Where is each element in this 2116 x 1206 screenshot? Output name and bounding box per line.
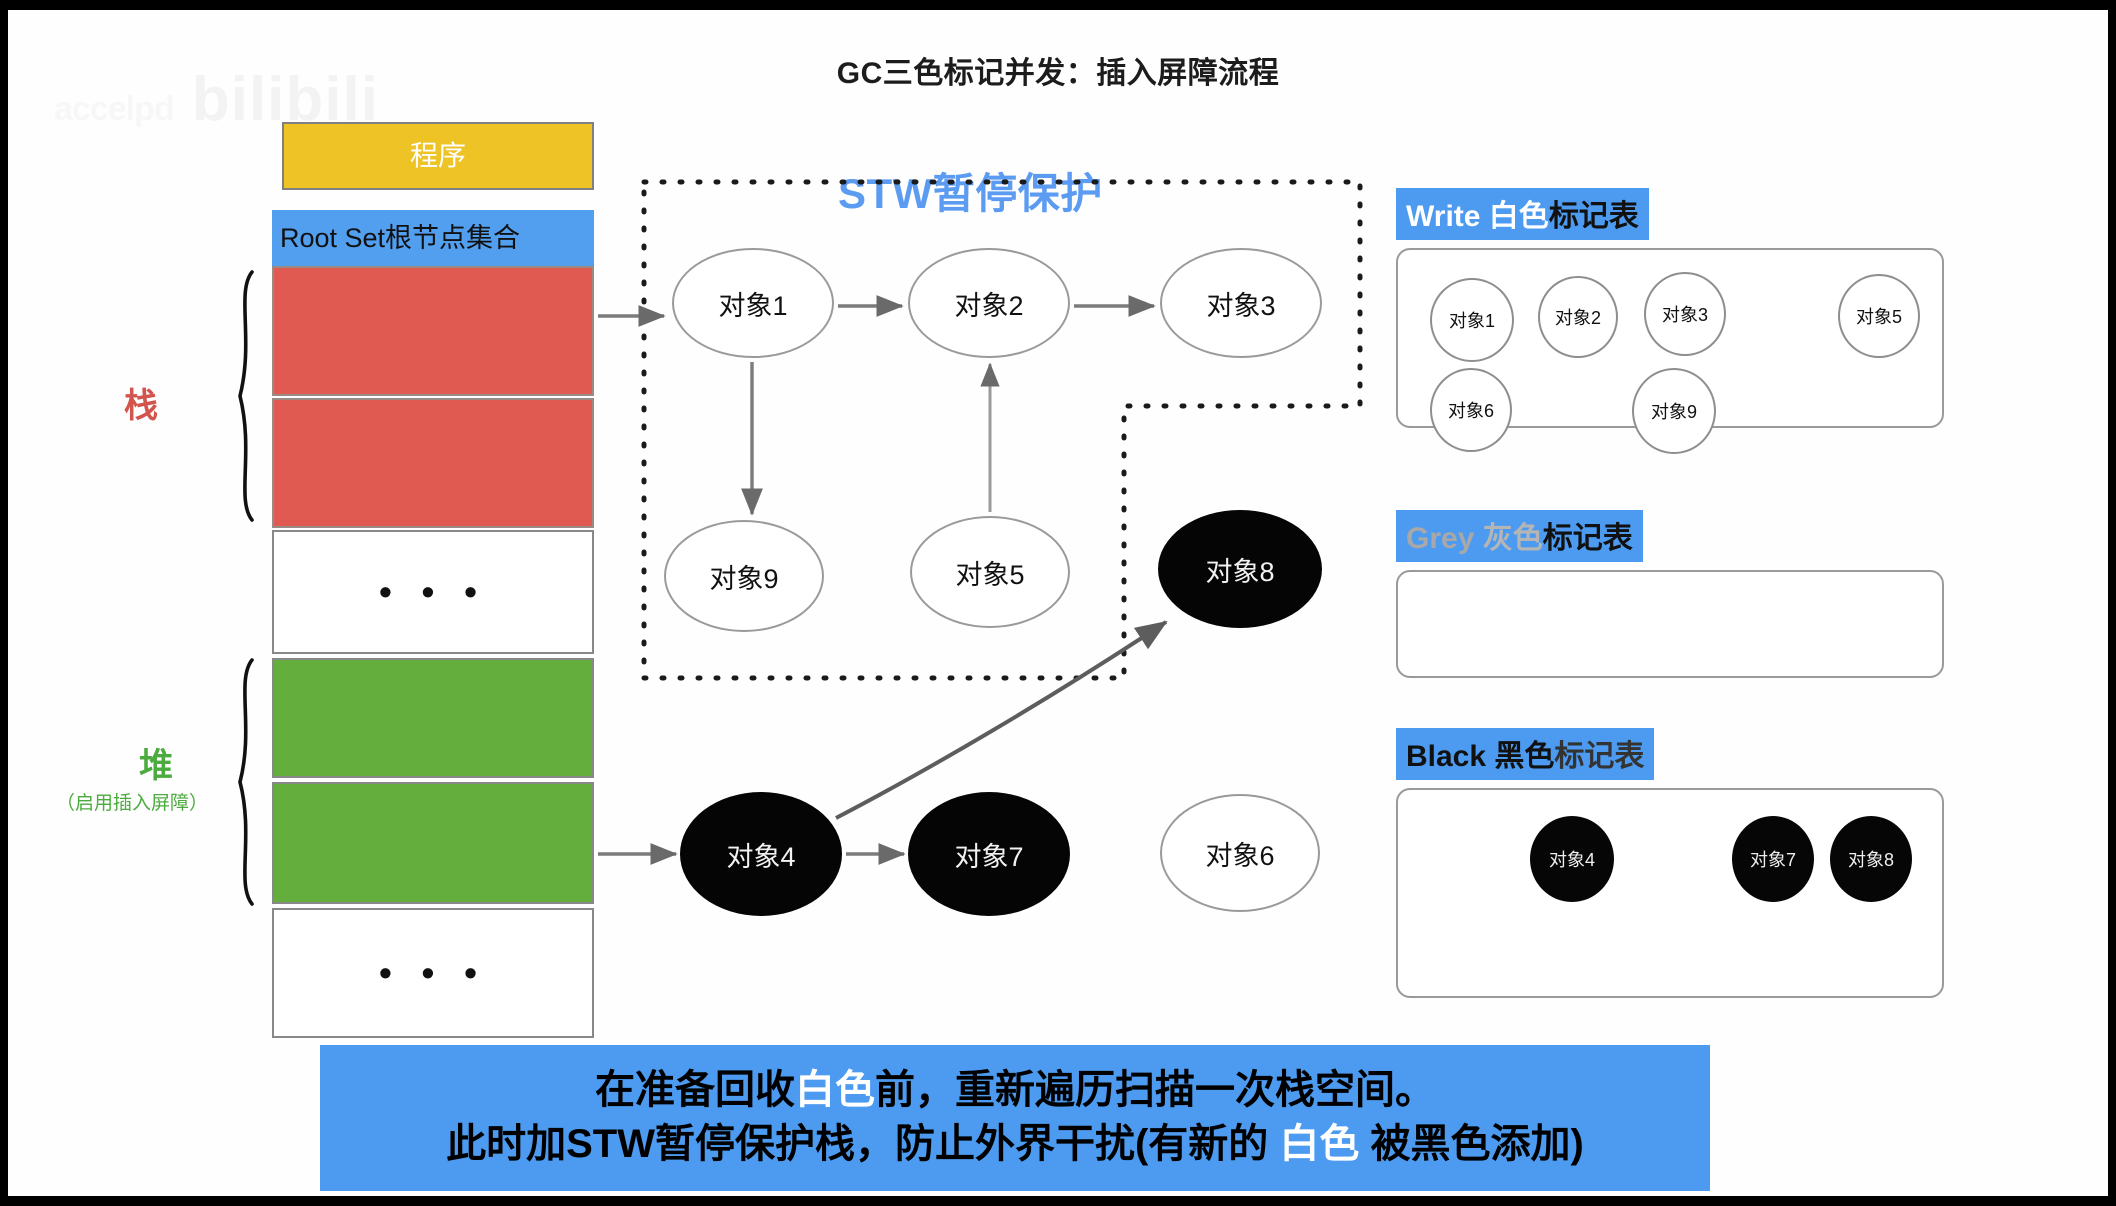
edge-obj4-to-obj8	[836, 622, 1166, 818]
white-table-item[interactable]: 对象1	[1430, 278, 1514, 362]
graph-node-obj7[interactable]: 对象7	[908, 792, 1070, 916]
caption-l2-white: 白色	[1279, 1122, 1359, 1166]
black-table-item[interactable]: 对象4	[1530, 816, 1614, 902]
stack-brace	[240, 272, 252, 520]
white-table-item[interactable]: 对象6	[1430, 368, 1512, 452]
graph-node-label: 对象7	[954, 835, 1023, 874]
slide-stage: accelpd bilibili GC三色标记并发：插入屏障流程 程序 Root…	[8, 10, 2108, 1196]
item-label: 对象3	[1662, 301, 1708, 327]
item-label: 对象2	[1555, 304, 1601, 330]
graph-node-obj8[interactable]: 对象8	[1158, 510, 1322, 628]
black-table-header-color-word: 黑色	[1486, 740, 1554, 773]
item-label: 对象9	[1651, 398, 1697, 424]
heap-region-sublabel: （启用插入屏障）	[56, 788, 208, 815]
heap-region-label: 堆	[126, 738, 186, 787]
black-marker-table: 对象4 对象7 对象8	[1396, 788, 1944, 998]
stack-ellipsis-slot: • • •	[272, 530, 594, 654]
caption-l2-b: 添加)	[1491, 1122, 1584, 1166]
item-label: 对象1	[1449, 307, 1495, 333]
black-table-header-en: Black	[1406, 740, 1486, 773]
grey-marker-table	[1396, 570, 1944, 678]
caption-l1-white: 白色	[795, 1068, 875, 1112]
white-table-header-tail: 标记表	[1549, 200, 1639, 233]
grey-table-header-tail: 标记表	[1543, 522, 1633, 555]
item-label: 对象5	[1856, 303, 1902, 329]
graph-node-obj1[interactable]: 对象1	[672, 248, 834, 358]
item-label: 对象6	[1448, 397, 1494, 423]
stack-region-label: 栈	[124, 378, 158, 427]
stw-region-label: STW暂停保护	[838, 160, 1103, 221]
graph-node-obj4[interactable]: 对象4	[680, 792, 842, 916]
item-label: 对象8	[1848, 846, 1894, 872]
graph-node-label: 对象1	[718, 284, 787, 323]
ellipsis-label: • • •	[274, 952, 592, 994]
graph-node-label: 对象8	[1205, 550, 1274, 589]
heap-slot-1	[272, 658, 594, 778]
item-label: 对象4	[1549, 846, 1595, 872]
page-title: GC三色标记并发：插入屏障流程	[8, 48, 2108, 92]
heap-ellipsis-slot: • • •	[272, 908, 594, 1038]
memory-block-rootset: Root Set根节点集合	[272, 210, 594, 266]
white-table-item[interactable]: 对象3	[1644, 272, 1726, 356]
memory-block-program: 程序	[282, 122, 594, 190]
black-table-item[interactable]: 对象8	[1830, 816, 1912, 902]
caption-l2-mid: 被	[1359, 1122, 1410, 1166]
graph-node-obj9[interactable]: 对象9	[664, 520, 824, 632]
caption-line-1: 在准备回收白色前，重新遍历扫描一次栈空间。	[595, 1064, 1435, 1118]
white-table-header-en: Write	[1406, 200, 1480, 233]
black-table-header: Black 黑色标记表	[1396, 728, 1654, 780]
white-table-header-color-word: 白色	[1480, 200, 1548, 233]
graph-node-obj3[interactable]: 对象3	[1160, 248, 1322, 358]
heap-brace	[240, 660, 252, 904]
graph-node-label: 对象6	[1205, 834, 1274, 873]
caption-banner: 在准备回收白色前，重新遍历扫描一次栈空间。 此时加STW暂停保护栈，防止外界干扰…	[320, 1045, 1710, 1191]
graph-node-label: 对象2	[954, 284, 1023, 323]
graph-node-obj6[interactable]: 对象6	[1160, 794, 1320, 912]
grey-table-header-color-word: 灰色	[1474, 522, 1542, 555]
white-table-item[interactable]: 对象5	[1838, 274, 1920, 358]
item-label: 对象7	[1750, 846, 1796, 872]
caption-line-2: 此时加STW暂停保护栈，防止外界干扰(有新的 白色 被黑色添加)	[446, 1118, 1584, 1172]
grey-table-header-en: Grey	[1406, 522, 1474, 555]
heap-slot-2	[272, 782, 594, 904]
memory-block-program-label: 程序	[284, 124, 592, 188]
graph-node-label: 对象9	[709, 557, 778, 596]
caption-l2-black: 黑色	[1411, 1122, 1491, 1166]
caption-l1-b: 前，重新遍历扫描一次栈空间。	[875, 1068, 1435, 1112]
stack-slot-2	[272, 398, 594, 528]
ellipsis-label: • • •	[274, 571, 592, 613]
video-frame: accelpd bilibili GC三色标记并发：插入屏障流程 程序 Root…	[0, 0, 2116, 1206]
watermark-username: accelpd	[54, 90, 174, 128]
white-table-item[interactable]: 对象2	[1538, 276, 1618, 358]
white-table-item[interactable]: 对象9	[1632, 368, 1716, 454]
graph-node-label: 对象5	[955, 553, 1024, 592]
grey-table-header: Grey 灰色标记表	[1396, 510, 1643, 562]
graph-node-obj2[interactable]: 对象2	[908, 248, 1070, 358]
black-table-header-tail: 标记表	[1554, 740, 1644, 773]
graph-node-label: 对象3	[1206, 284, 1275, 323]
graph-node-obj5[interactable]: 对象5	[910, 516, 1070, 628]
memory-block-rootset-label: Root Set根节点集合	[272, 210, 594, 266]
caption-l1-a: 在准备回收	[595, 1068, 795, 1112]
graph-node-label: 对象4	[726, 835, 795, 874]
white-table-header: Write 白色标记表	[1396, 188, 1649, 240]
white-marker-table: 对象1 对象2 对象3 对象5 对象6 对象9	[1396, 248, 1944, 428]
stack-slot-1	[272, 266, 594, 396]
caption-l2-a: 此时加STW暂停保护栈，防止外界干扰(有新的	[446, 1122, 1279, 1166]
black-table-item[interactable]: 对象7	[1732, 816, 1814, 902]
